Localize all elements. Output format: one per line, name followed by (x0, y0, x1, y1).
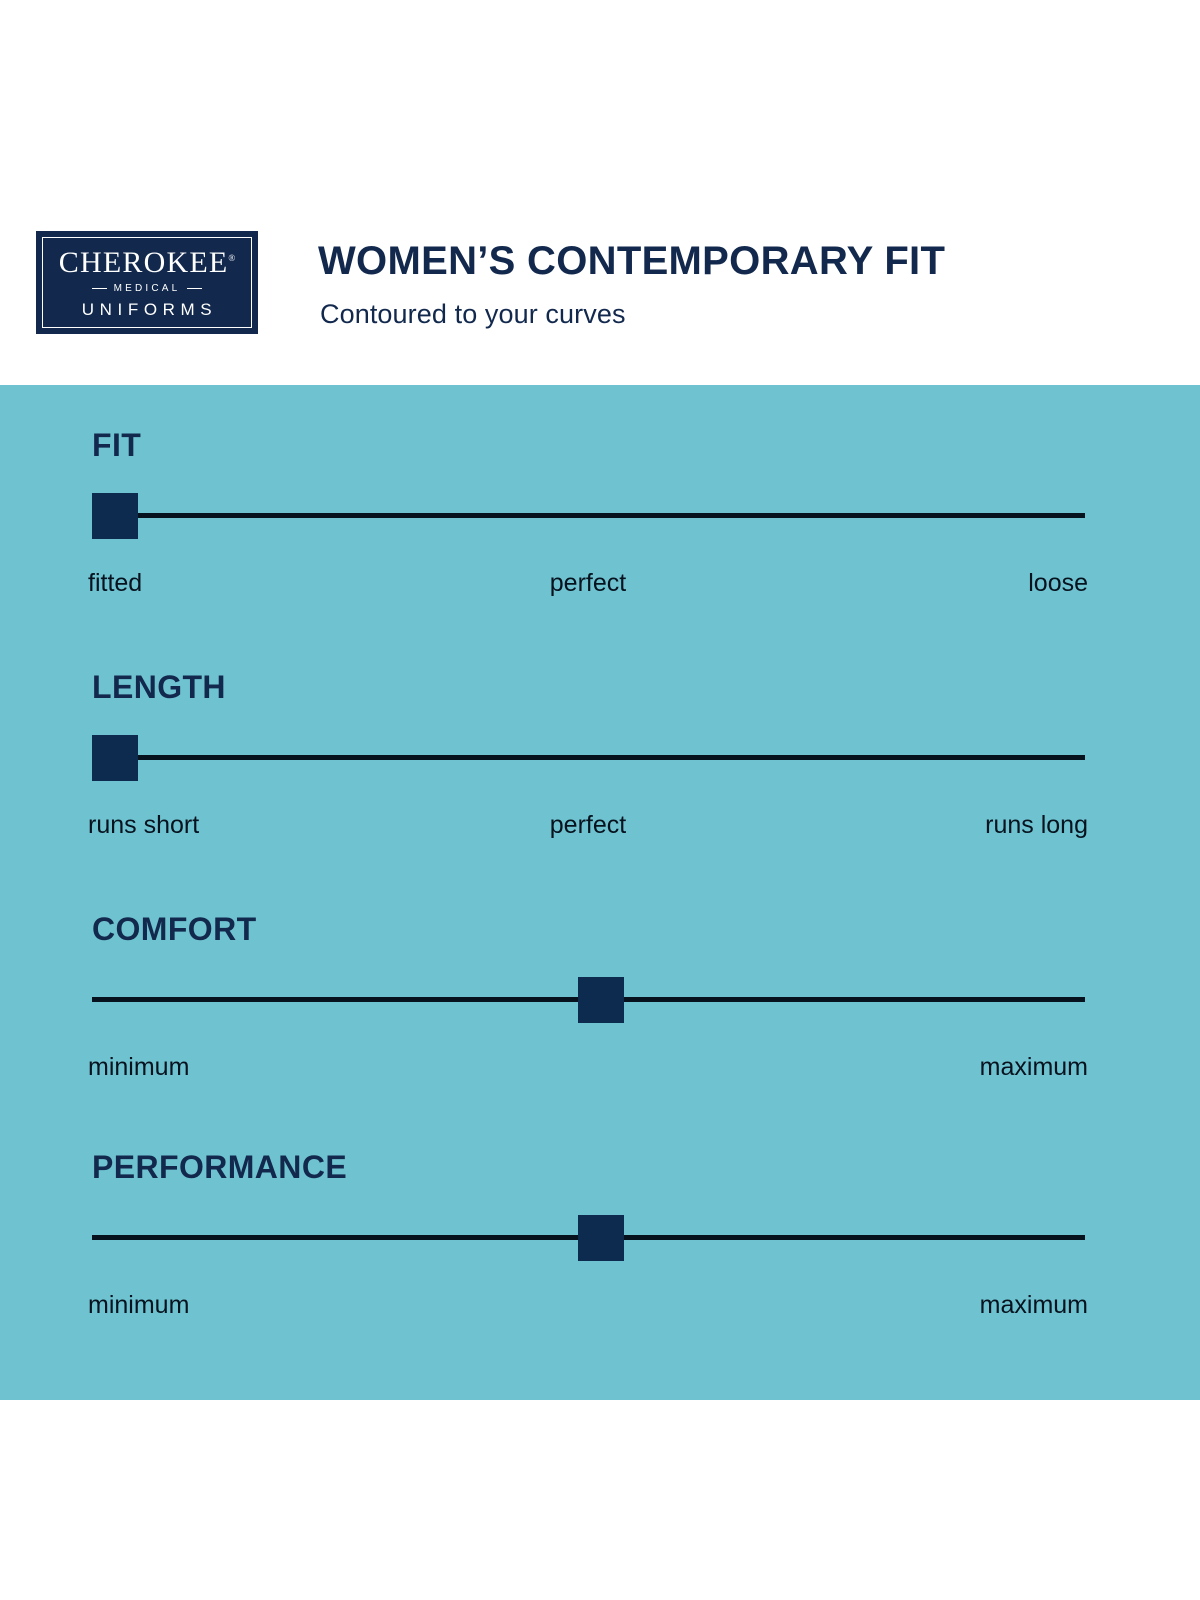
slider-title-length: LENGTH (92, 671, 226, 703)
slider-label-min-performance: minimum (88, 1293, 189, 1318)
registered-trademark-icon: ® (228, 253, 235, 263)
slider-track-length[interactable] (92, 755, 1085, 760)
slider-label-max-length: runs long (985, 813, 1088, 838)
rating-scales-panel: FIT fitted perfect loose LENGTH runs sho… (0, 385, 1200, 1400)
slider-marker-comfort[interactable] (578, 977, 624, 1023)
page-subtitle: Contoured to your curves (320, 298, 626, 330)
slider-marker-fit[interactable] (92, 493, 138, 539)
logo-wordmark-text: CHEROKEE® (59, 248, 235, 278)
slider-label-max-fit: loose (1028, 571, 1088, 596)
logo-wordmark-label: CHEROKEE (59, 246, 229, 279)
slider-track-fit[interactable] (92, 513, 1085, 518)
slider-title-performance: PERFORMANCE (92, 1151, 347, 1183)
logo-uniforms-label: UNIFORMS (82, 301, 217, 318)
slider-label-max-comfort: maximum (980, 1055, 1088, 1080)
slider-marker-performance[interactable] (578, 1215, 624, 1261)
slider-title-fit: FIT (92, 429, 141, 461)
slider-label-min-length: runs short (88, 813, 199, 838)
page-header: CHEROKEE® MEDICAL UNIFORMS WOMEN’S CONTE… (0, 0, 1200, 385)
slider-label-mid-length: perfect (550, 813, 626, 838)
slider-label-max-performance: maximum (980, 1293, 1088, 1318)
slider-title-comfort: COMFORT (92, 913, 257, 945)
cherokee-logo: CHEROKEE® MEDICAL UNIFORMS (36, 231, 258, 334)
slider-label-min-comfort: minimum (88, 1055, 189, 1080)
slider-labels-fit: fitted perfect loose (88, 571, 1088, 605)
logo-dash-right-icon (187, 288, 202, 290)
slider-label-min-fit: fitted (88, 571, 142, 596)
logo-dash-left-icon (92, 288, 107, 290)
slider-label-mid-fit: perfect (550, 571, 626, 596)
slider-marker-length[interactable] (92, 735, 138, 781)
slider-labels-performance: minimum maximum (88, 1293, 1088, 1327)
logo-medical-label: MEDICAL (114, 284, 181, 294)
page-title: WOMEN’S CONTEMPORARY FIT (318, 240, 945, 282)
logo-inner-border: CHEROKEE® MEDICAL UNIFORMS (42, 237, 252, 328)
logo-medical-row: MEDICAL (92, 284, 203, 294)
slider-labels-length: runs short perfect runs long (88, 813, 1088, 847)
slider-labels-comfort: minimum maximum (88, 1055, 1088, 1089)
